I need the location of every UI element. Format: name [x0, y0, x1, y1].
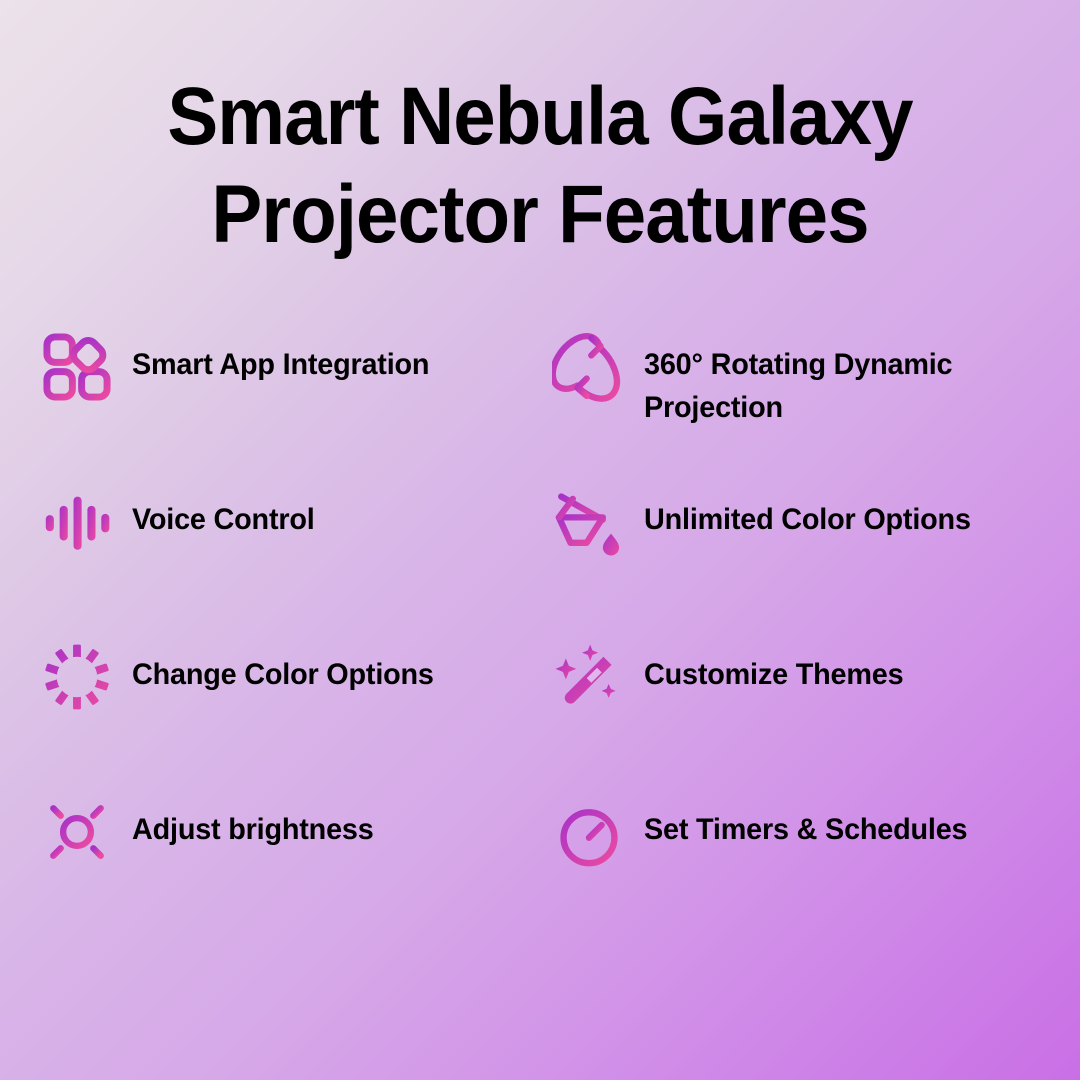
magic-wand-icon	[552, 640, 626, 714]
page-title: Smart Nebula Galaxy Projector Features	[0, 68, 1080, 264]
rotate-orbit-icon	[552, 330, 626, 404]
waveform-icon	[40, 485, 114, 559]
sun-brightness-icon	[40, 795, 114, 869]
feature-item-set-timers-and-schedules: Set Timers & Schedules	[552, 795, 1050, 869]
feature-label: Customize Themes	[644, 640, 903, 696]
feature-item-change-color-options: Change Color Options	[40, 640, 552, 714]
app-grid-icon	[40, 330, 114, 404]
paint-bucket-icon	[552, 485, 626, 559]
color-wheel-icon	[40, 640, 114, 714]
feature-item-smart-app-integration: Smart App Integration	[40, 330, 552, 404]
feature-item-unlimited-color-options: Unlimited Color Options	[552, 485, 1050, 559]
feature-poster: Smart Nebula Galaxy Projector Features S	[0, 0, 1080, 1080]
feature-label: Unlimited Color Options	[644, 485, 971, 541]
stopwatch-icon	[552, 795, 626, 869]
feature-item-voice-control: Voice Control	[40, 485, 552, 559]
feature-label: Smart App Integration	[132, 330, 429, 386]
title-line-1: Smart Nebula Galaxy	[38, 68, 1042, 166]
feature-label: Change Color Options	[132, 640, 434, 696]
feature-label: 360° Rotating Dynamic Projection	[644, 330, 1018, 429]
feature-item-customize-themes: Customize Themes	[552, 640, 1050, 714]
feature-label: Set Timers & Schedules	[644, 795, 967, 851]
title-line-2: Projector Features	[38, 166, 1042, 264]
feature-label: Voice Control	[132, 485, 315, 541]
feature-list: Smart App Integration 360° Rotating Dyna…	[40, 330, 1050, 950]
feature-label: Adjust brightness	[132, 795, 374, 851]
paint-drop	[603, 534, 619, 556]
feature-item-adjust-brightness: Adjust brightness	[40, 795, 552, 869]
feature-item-360-rotating-dynamic-projection: 360° Rotating Dynamic Projection	[552, 330, 1050, 429]
